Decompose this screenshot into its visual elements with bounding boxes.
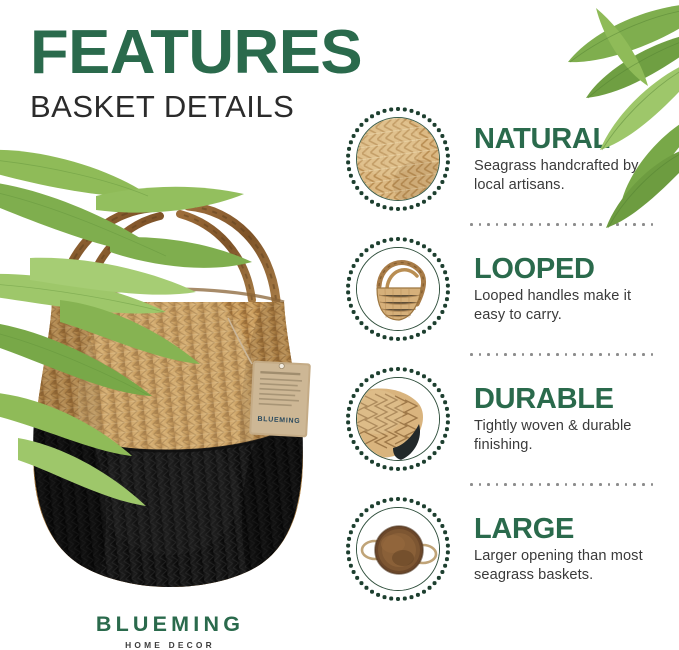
feature-thumb-wrapper [346, 237, 450, 341]
feature-item-looped[interactable]: LOOPED Looped handles make it easy to ca… [340, 234, 679, 344]
basket-with-looped-handles-icon [356, 247, 440, 331]
page-title: FEATURES [30, 24, 362, 83]
feature-title: LOOPED [474, 254, 673, 284]
product-photo: BLUEMING [0, 150, 340, 620]
brand-name: BLUEMING [0, 614, 340, 636]
basket-handles [60, 206, 276, 300]
feature-thumb-wrapper [346, 497, 450, 601]
feature-title: DURABLE [474, 384, 673, 414]
feature-item-large[interactable]: LARGE Larger opening than most seagrass … [340, 494, 679, 604]
brand-tagline: HOME DECOR [0, 641, 340, 649]
woven-seagrass-texture-icon [356, 117, 440, 201]
basket-illustration: BLUEMING [0, 150, 340, 620]
brand-footer: BLUEMING HOME DECOR [0, 614, 340, 649]
infographic-page: FEATURES BASKET DETAILS [0, 0, 679, 650]
feature-description: Tightly woven & durable finishing. [474, 417, 659, 454]
feature-text-durable: DURABLE Tightly woven & durable finishin… [450, 384, 679, 455]
feature-description: Larger opening than most seagrass basket… [474, 547, 659, 584]
feature-title: LARGE [474, 514, 673, 544]
feature-description: Seagrass handcrafted by local artisans. [474, 157, 659, 194]
feature-text-natural: NATURAL Seagrass handcrafted by local ar… [450, 124, 679, 195]
page-subtitle: BASKET DETAILS [30, 91, 356, 122]
feature-separator-2 [470, 344, 665, 364]
feature-item-durable[interactable]: DURABLE Tightly woven & durable finishin… [340, 364, 679, 474]
basket-top-opening-icon [356, 507, 440, 591]
feature-thumb-wrapper [346, 107, 450, 211]
feature-thumb-wrapper [346, 367, 450, 471]
feature-item-natural[interactable]: NATURAL Seagrass handcrafted by local ar… [340, 104, 679, 214]
feature-separator-1 [470, 214, 665, 234]
page-header: FEATURES BASKET DETAILS [30, 24, 356, 122]
feature-title: NATURAL [474, 124, 673, 154]
feature-text-looped: LOOPED Looped handles make it easy to ca… [450, 254, 679, 325]
tight-weave-closeup-icon [356, 377, 440, 461]
feature-description: Looped handles make it easy to carry. [474, 287, 659, 324]
feature-text-large: LARGE Larger opening than most seagrass … [450, 514, 679, 585]
feature-list: NATURAL Seagrass handcrafted by local ar… [340, 104, 679, 604]
feature-separator-3 [470, 474, 665, 494]
